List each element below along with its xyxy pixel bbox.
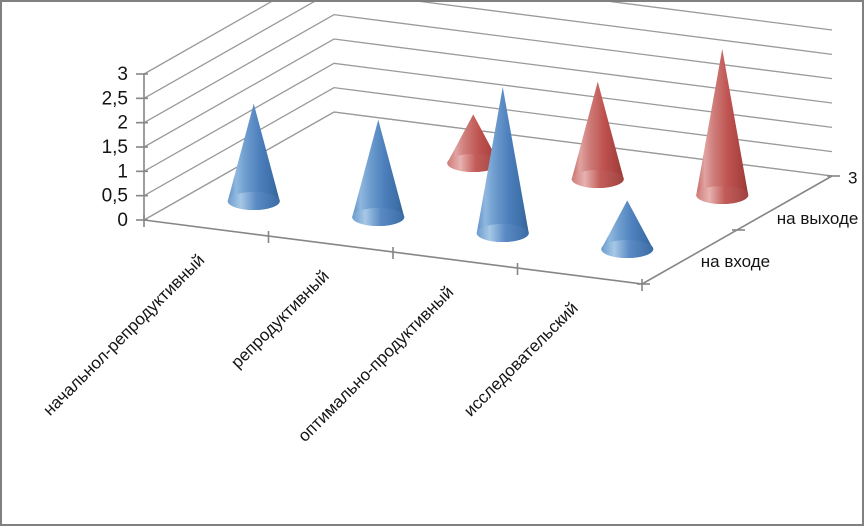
cone-на-входе-1-base (352, 208, 404, 226)
y-tick-label-2: 2 (117, 113, 128, 134)
depth-axis-label-0: 3 (848, 168, 857, 187)
cone-на-выходе-3-base (696, 186, 748, 204)
cone-chart-3d: 32,521,510,50 3на выходена входе начальн… (2, 2, 864, 526)
y-tick-label-5: 0,5 (102, 186, 128, 207)
cone-на-входе-0-base (228, 192, 280, 210)
category-label-1: репродуктивный (227, 267, 332, 372)
cone-на-входе-2-base (477, 224, 529, 242)
y-tick-label-6: 0 (117, 210, 128, 231)
category-label-3: исследовательский (460, 299, 582, 421)
cone-на-выходе-3-body (696, 49, 748, 204)
y-tick-label-0: 3 (117, 64, 128, 85)
category-label-0: начальнол-репродуктивный (39, 251, 208, 420)
cone-на-входе-3-base (601, 240, 653, 258)
depth-axis-label-1: на выходе (777, 209, 859, 228)
y-tick-label-3: 1,5 (102, 137, 128, 158)
gridline-value-3 (144, 2, 832, 74)
cone-на-выходе-2-base (572, 170, 624, 188)
category-axis-labels: начальнол-репродуктивныйрепродуктивныйоп… (39, 251, 581, 446)
y-axis-tick-labels: 32,521,510,50 (102, 64, 128, 231)
category-label-2: оптимально-продуктивный (294, 283, 457, 446)
chart-container: 32,521,510,50 3на выходена входе начальн… (0, 0, 864, 526)
depth-axis-label-2: на входе (701, 252, 770, 271)
y-tick-label-4: 1 (117, 161, 128, 182)
y-tick-label-1: 2,5 (102, 88, 128, 109)
